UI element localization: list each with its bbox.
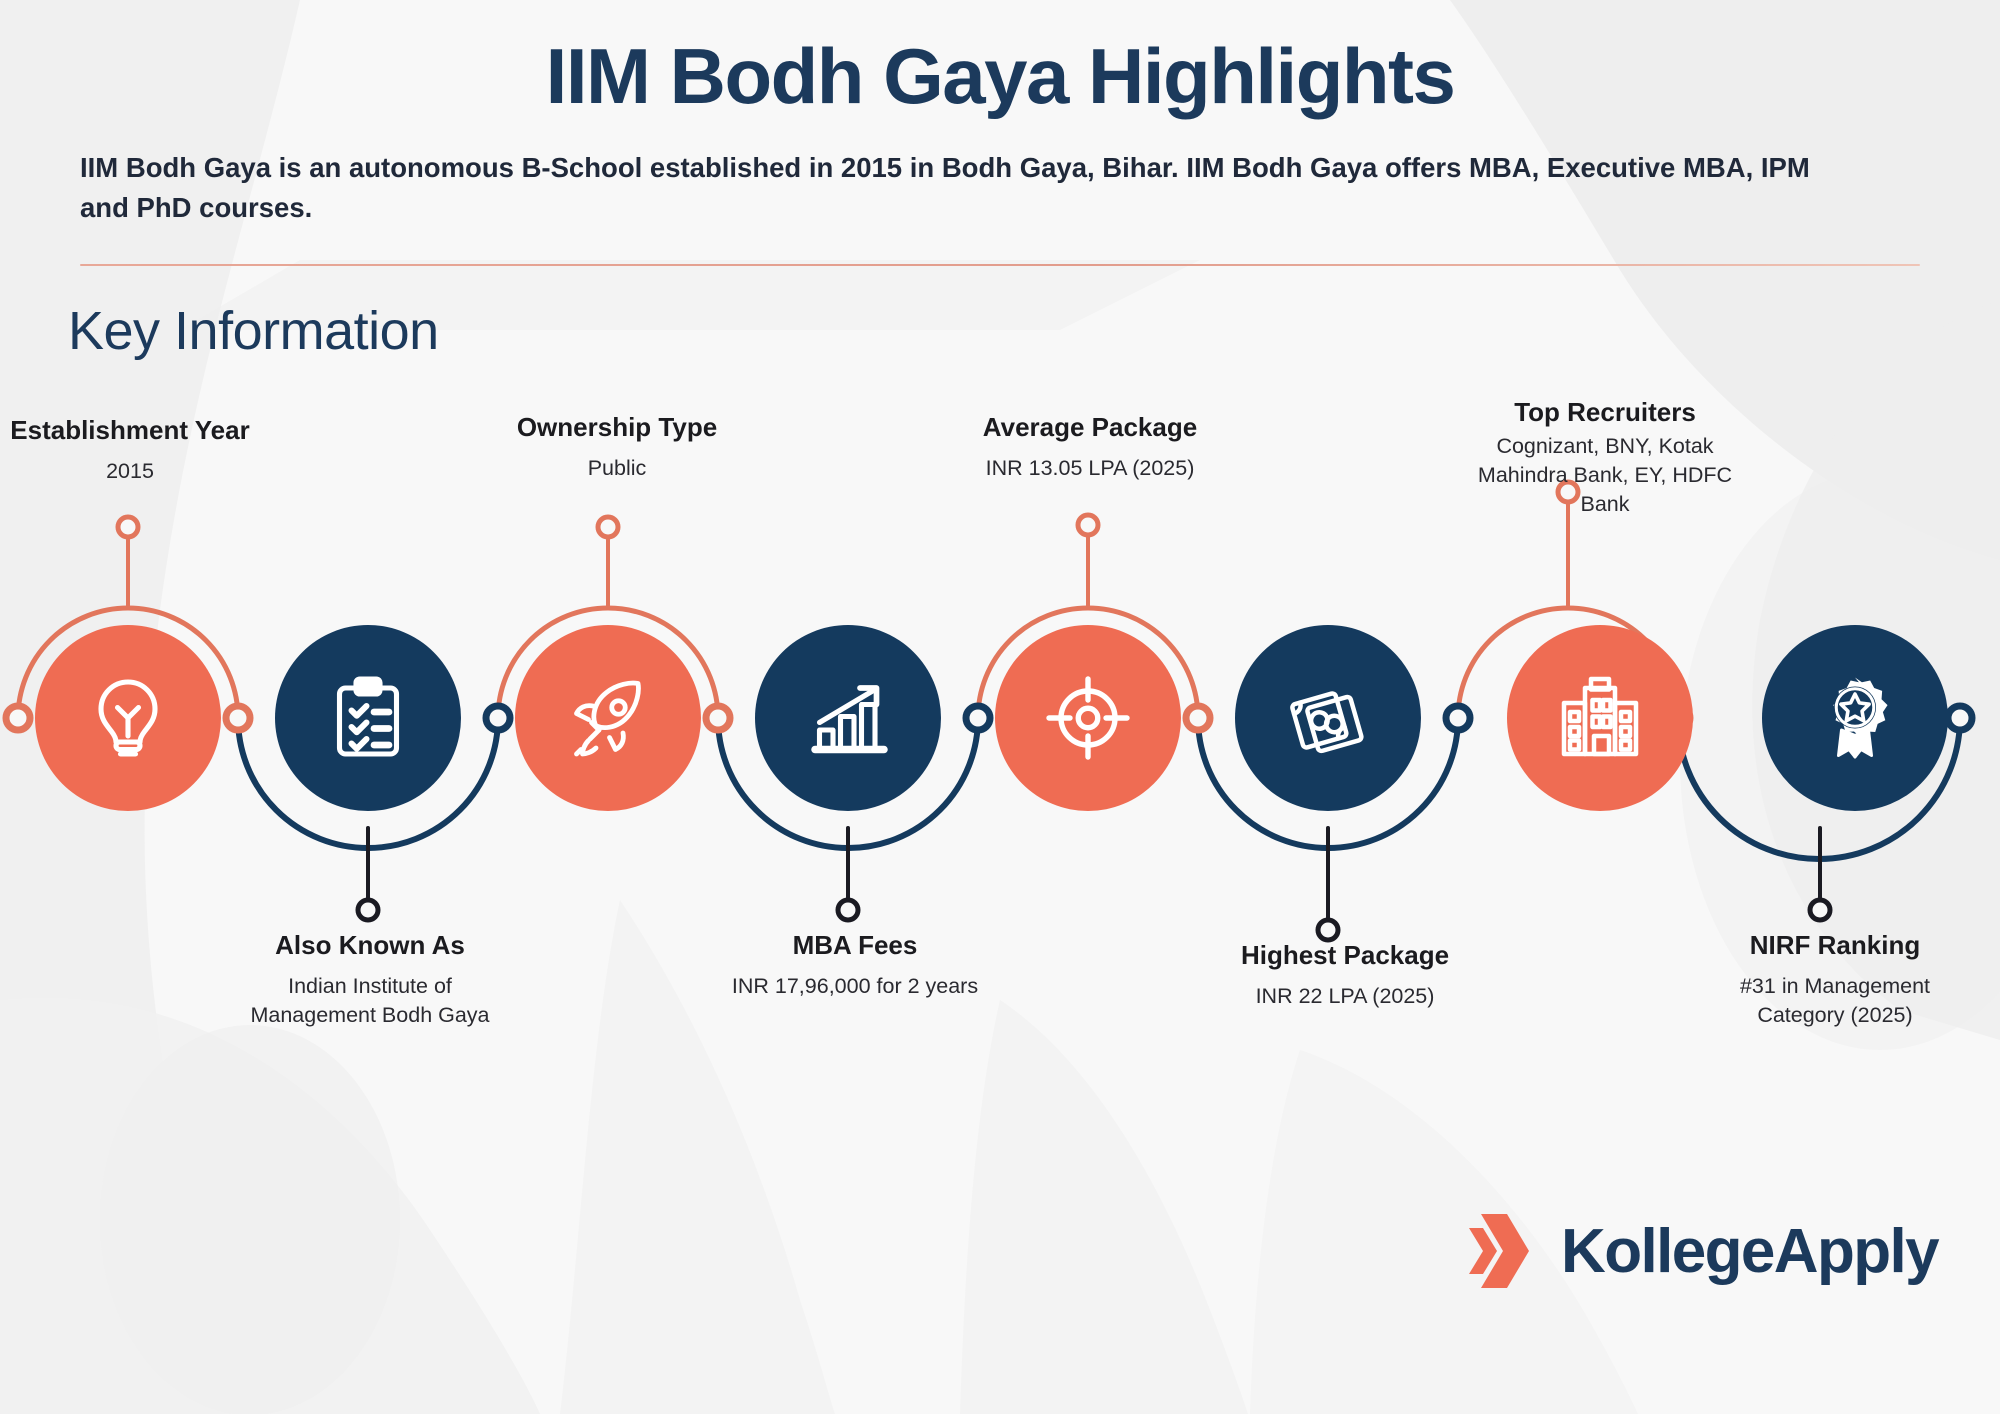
target-icon: [1040, 670, 1136, 766]
double-chevron-logo-mark: [1467, 1208, 1543, 1294]
junction-node: [1948, 706, 1972, 730]
label-value: Indian Institute of Management Bodh Gaya: [205, 972, 535, 1030]
label-title: Top Recruiters: [1440, 397, 1770, 428]
label-title: Establishment Year: [0, 415, 295, 446]
bar-chart-growth-icon: [800, 670, 896, 766]
junction-node: [1446, 706, 1470, 730]
label-title: NIRF Ranking: [1670, 930, 2000, 961]
timeline-circle-ownership-type[interactable]: [515, 625, 701, 811]
junction-node: [1186, 706, 1210, 730]
label-value: INR 22 LPA (2025): [1180, 982, 1510, 1011]
label-title: Also Known As: [205, 930, 535, 961]
header: IIM Bodh Gaya Highlights IIM Bodh Gaya i…: [0, 0, 2000, 362]
banknotes-icon: [1280, 670, 1376, 766]
label-value: INR 13.05 LPA (2025): [925, 454, 1255, 483]
label-ownership-type: Ownership Type Public: [452, 412, 782, 483]
stem-endpoint: [1810, 900, 1830, 920]
timeline-circle-establishment-year[interactable]: [35, 625, 221, 811]
stem-endpoint: [358, 900, 378, 920]
timeline-circle-highest-package[interactable]: [1235, 625, 1421, 811]
label-title: MBA Fees: [690, 930, 1020, 961]
junction-node: [226, 706, 250, 730]
label-value: 2015: [0, 457, 295, 486]
label-value: INR 17,96,000 for 2 years: [690, 972, 1020, 1001]
label-also-known-as: Also Known As Indian Institute of Manage…: [205, 930, 535, 1030]
stem-endpoint: [1318, 920, 1338, 940]
timeline-circle-also-known-as[interactable]: [275, 625, 461, 811]
label-top-recruiters: Top Recruiters Cognizant, BNY, Kotak Mah…: [1440, 397, 1770, 519]
stem-endpoint: [118, 517, 138, 537]
junction-node: [486, 706, 510, 730]
building-icon: [1552, 670, 1648, 766]
label-title: Average Package: [925, 412, 1255, 443]
section-title: Key Information: [68, 300, 2000, 362]
timeline-circle-average-package[interactable]: [995, 625, 1181, 811]
label-value: Cognizant, BNY, Kotak Mahindra Bank, EY,…: [1440, 432, 1770, 519]
label-title: Highest Package: [1180, 940, 1510, 971]
stem-endpoint: [1078, 515, 1098, 535]
subtitle-text: IIM Bodh Gaya is an autonomous B-School …: [80, 148, 1840, 228]
junction-node: [966, 706, 990, 730]
label-establishment-year: Establishment Year 2015: [0, 415, 295, 486]
stem-endpoint: [838, 900, 858, 920]
page-title: IIM Bodh Gaya Highlights: [0, 0, 2000, 118]
clipboard-checklist-icon: [320, 670, 416, 766]
header-divider: [80, 264, 1920, 266]
label-mba-fees: MBA Fees INR 17,96,000 for 2 years: [690, 930, 1020, 1001]
rocket-icon: [560, 670, 656, 766]
kollegeapply-logo[interactable]: KollegeApply: [1467, 1208, 1938, 1294]
lightbulb-icon: [80, 670, 176, 766]
junction-node: [6, 706, 30, 730]
stem-endpoint: [598, 517, 618, 537]
timeline-circle-nirf-ranking[interactable]: [1762, 625, 1948, 811]
label-title: Ownership Type: [452, 412, 782, 443]
label-value: Public: [452, 454, 782, 483]
award-badge-icon: [1807, 670, 1903, 766]
timeline-circle-mba-fees[interactable]: [755, 625, 941, 811]
logo-text: KollegeApply: [1561, 1216, 1938, 1287]
label-highest-package: Highest Package INR 22 LPA (2025): [1180, 940, 1510, 1011]
label-nirf-ranking: NIRF Ranking #31 in Management Category …: [1670, 930, 2000, 1030]
label-average-package: Average Package INR 13.05 LPA (2025): [925, 412, 1255, 483]
junction-node: [706, 706, 730, 730]
timeline-circle-top-recruiters[interactable]: [1507, 625, 1693, 811]
infographic-canvas: IIM Bodh Gaya Highlights IIM Bodh Gaya i…: [0, 0, 2000, 1414]
label-value: #31 in Management Category (2025): [1670, 972, 2000, 1030]
